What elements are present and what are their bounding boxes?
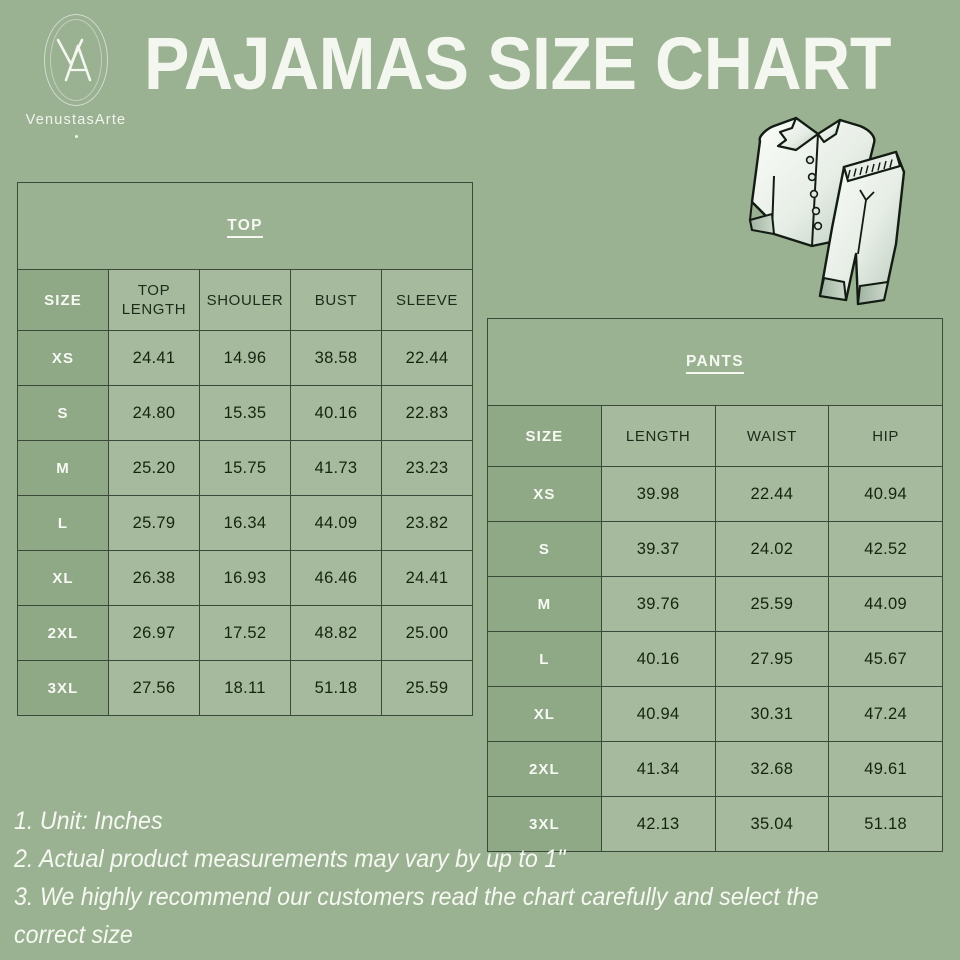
pants-cell-s-waist: 24.02 [715,522,829,577]
table-row: 3XL 27.56 18.11 51.18 25.59 [18,661,473,716]
top-col-header-size: SIZE [18,270,109,331]
pants-size-table: PANTS SIZE LENGTH WAIST HIP XS 39.98 22.… [487,318,943,852]
top-table-caption: TOP [18,183,473,270]
pants-cell-xs-waist: 22.44 [715,467,829,522]
top-cell-2xl-top-length: 26.97 [109,606,200,661]
table-row: XL 26.38 16.93 46.46 24.41 [18,551,473,606]
pants-cell-s-hip: 42.52 [829,522,943,577]
top-cell-s-shouler: 15.35 [200,386,291,441]
page-title: PAJAMAS SIZE CHART [144,22,871,106]
top-row-size-xs: XS [18,331,109,386]
top-cell-xl-sleeve: 24.41 [382,551,473,606]
pants-cell-m-waist: 25.59 [715,577,829,632]
pants-table-header-row: SIZE LENGTH WAIST HIP [488,406,943,467]
table-row: XL 40.94 30.31 47.24 [488,687,943,742]
top-col-header-bust: BUST [291,270,382,331]
pants-table-caption-row: PANTS [488,319,943,406]
top-cell-xl-top-length: 26.38 [109,551,200,606]
pants-cell-xl-hip: 47.24 [829,687,943,742]
top-cell-l-top-length: 25.79 [109,496,200,551]
top-row-size-l: L [18,496,109,551]
top-table-body: TOP SIZE TOP LENGTH SHOULER BUST SLEEVE … [18,183,473,716]
pants-cell-s-length: 39.37 [601,522,715,577]
top-row-size-2xl: 2XL [18,606,109,661]
pants-cell-xl-length: 40.94 [601,687,715,742]
pants-cell-2xl-waist: 32.68 [715,742,829,797]
pants-table-caption: PANTS [488,319,943,406]
pants-col-header-waist: WAIST [715,406,829,467]
top-row-size-3xl: 3XL [18,661,109,716]
va-monogram-oval-icon [40,14,112,106]
top-table-caption-text: TOP [227,217,262,238]
pants-col-header-size: SIZE [488,406,602,467]
top-cell-2xl-bust: 48.82 [291,606,382,661]
table-row: L 40.16 27.95 45.67 [488,632,943,687]
top-cell-3xl-shouler: 18.11 [200,661,291,716]
top-row-size-s: S [18,386,109,441]
top-cell-s-top-length: 24.80 [109,386,200,441]
pants-row-size-l: L [488,632,602,687]
top-cell-m-shouler: 15.75 [200,441,291,496]
top-cell-2xl-shouler: 17.52 [200,606,291,661]
top-cell-xs-bust: 38.58 [291,331,382,386]
pants-cell-xs-hip: 40.94 [829,467,943,522]
pants-cell-2xl-hip: 49.61 [829,742,943,797]
pants-cell-m-hip: 44.09 [829,577,943,632]
top-cell-3xl-top-length: 27.56 [109,661,200,716]
top-col-header-sleeve: SLEEVE [382,270,473,331]
pants-cell-xl-waist: 30.31 [715,687,829,742]
pants-row-size-xl: XL [488,687,602,742]
top-cell-xl-bust: 46.46 [291,551,382,606]
top-cell-3xl-sleeve: 25.59 [382,661,473,716]
pants-cell-l-length: 40.16 [601,632,715,687]
table-row: 2XL 41.34 32.68 49.61 [488,742,943,797]
pants-table-body: PANTS SIZE LENGTH WAIST HIP XS 39.98 22.… [488,319,943,852]
top-cell-m-sleeve: 23.23 [382,441,473,496]
top-cell-l-shouler: 16.34 [200,496,291,551]
top-cell-l-sleeve: 23.82 [382,496,473,551]
top-row-size-xl: XL [18,551,109,606]
top-table-header-row: SIZE TOP LENGTH SHOULER BUST SLEEVE [18,270,473,331]
pants-cell-l-waist: 27.95 [715,632,829,687]
top-cell-xs-shouler: 14.96 [200,331,291,386]
table-row: M 39.76 25.59 44.09 [488,577,943,632]
top-cell-m-bust: 41.73 [291,441,382,496]
pants-col-header-length: LENGTH [601,406,715,467]
table-row: XS 24.41 14.96 38.58 22.44 [18,331,473,386]
pants-row-size-s: S [488,522,602,577]
pants-cell-m-length: 39.76 [601,577,715,632]
pants-table-caption-text: PANTS [686,353,744,374]
top-cell-s-sleeve: 22.83 [382,386,473,441]
pants-row-size-m: M [488,577,602,632]
top-cell-xs-sleeve: 22.44 [382,331,473,386]
logo-dot [75,135,78,138]
top-size-table: TOP SIZE TOP LENGTH SHOULER BUST SLEEVE … [17,182,473,716]
top-cell-2xl-sleeve: 25.00 [382,606,473,661]
note-recommendation: 3. We highly recommend our customers rea… [14,878,888,954]
table-row: S 39.37 24.02 42.52 [488,522,943,577]
top-cell-xs-top-length: 24.41 [109,331,200,386]
pants-cell-xs-length: 39.98 [601,467,715,522]
top-col-header-top-length: TOP LENGTH [109,270,200,331]
top-cell-3xl-bust: 51.18 [291,661,382,716]
table-row: L 25.79 16.34 44.09 23.82 [18,496,473,551]
note-tolerance: 2. Actual product measurements may vary … [14,840,888,878]
pajama-set-illustration [700,104,932,318]
top-cell-s-bust: 40.16 [291,386,382,441]
brand-name: VenustasArte [20,112,132,128]
table-row: 2XL 26.97 17.52 48.82 25.00 [18,606,473,661]
pants-row-size-2xl: 2XL [488,742,602,797]
top-table-caption-row: TOP [18,183,473,270]
table-row: XS 39.98 22.44 40.94 [488,467,943,522]
top-row-size-m: M [18,441,109,496]
pants-cell-l-hip: 45.67 [829,632,943,687]
top-cell-l-bust: 44.09 [291,496,382,551]
top-cell-m-top-length: 25.20 [109,441,200,496]
note-unit: 1. Unit: Inches [14,802,888,840]
pants-col-header-hip: HIP [829,406,943,467]
table-row: S 24.80 15.35 40.16 22.83 [18,386,473,441]
pants-cell-2xl-length: 41.34 [601,742,715,797]
table-row: M 25.20 15.75 41.73 23.23 [18,441,473,496]
pants-row-size-xs: XS [488,467,602,522]
brand-logo: VenustasArte [20,14,132,138]
top-col-header-shouler: SHOULER [200,270,291,331]
top-cell-xl-shouler: 16.93 [200,551,291,606]
footer-notes: 1. Unit: Inches 2. Actual product measur… [14,802,888,954]
va-letters-icon [52,34,100,90]
